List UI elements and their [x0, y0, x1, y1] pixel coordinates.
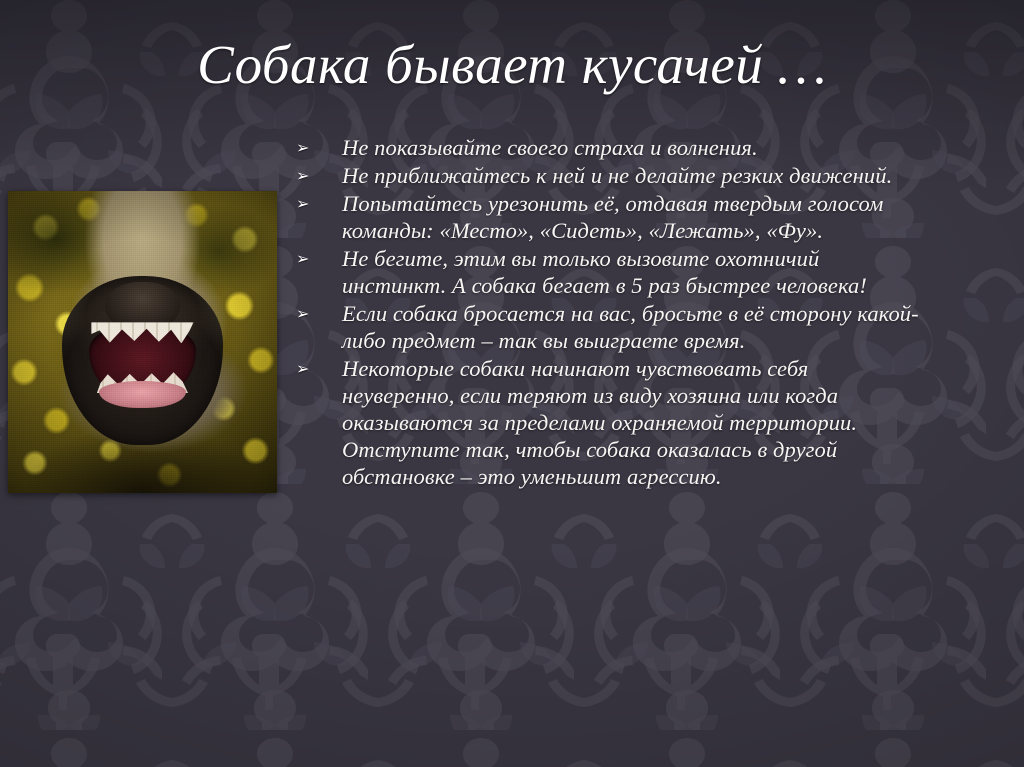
bullet-arrow-icon: ➢ [292, 245, 342, 272]
bullet-item: ➢Не показывайте своего страха и волнения… [292, 134, 920, 161]
photo-vignette [8, 191, 277, 493]
bullet-text: Не бегите, этим вы только вызовите охотн… [342, 245, 920, 299]
slide-title: Собака бывает кусачей … [0, 34, 1024, 96]
bullet-arrow-icon: ➢ [292, 355, 342, 382]
presentation-slide: Собака бывает кусачей … ➢Не показывайте … [0, 0, 1024, 767]
bullet-item: ➢Если собака бросается на вас, бросьте в… [292, 300, 920, 354]
dog-photo [8, 191, 277, 493]
bullet-text: Попытайтесь урезонить её, отдавая тверды… [342, 190, 920, 244]
bullet-item: ➢Не бегите, этим вы только вызовите охот… [292, 245, 920, 299]
bullet-item: ➢Не приближайтесь к ней и не делайте рез… [292, 162, 920, 189]
bullet-arrow-icon: ➢ [292, 134, 342, 161]
bullet-arrow-icon: ➢ [292, 300, 342, 327]
bullet-item: ➢Попытайтесь урезонить её, отдавая тверд… [292, 190, 920, 244]
bullet-text: Если собака бросается на вас, бросьте в … [342, 300, 920, 354]
bullet-text: Не приближайтесь к ней и не делайте резк… [342, 162, 920, 189]
bullet-arrow-icon: ➢ [292, 162, 342, 189]
bullet-item: ➢Некоторые собаки начинают чувствовать с… [292, 355, 920, 490]
bullet-text: Некоторые собаки начинают чувствовать се… [342, 355, 920, 490]
bullet-arrow-icon: ➢ [292, 190, 342, 217]
bullet-text: Не показывайте своего страха и волнения. [342, 134, 920, 161]
bullet-list: ➢Не показывайте своего страха и волнения… [292, 134, 920, 491]
